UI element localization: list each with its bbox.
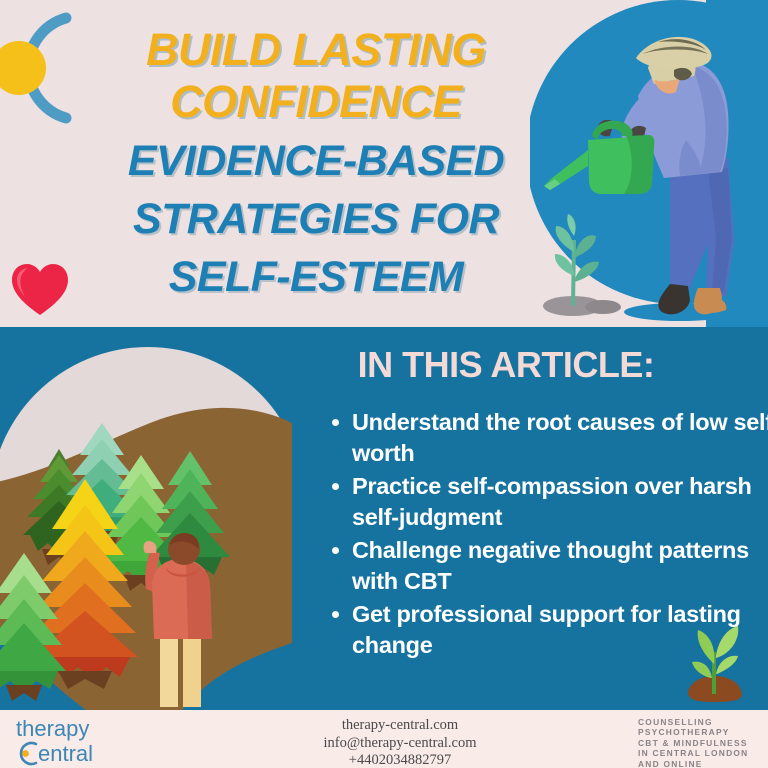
headline-blue-line-3: SELF-ESTEEM <box>96 252 536 302</box>
service-line-4: IN CENTRAL LONDON <box>638 748 768 758</box>
article-content-column: IN THIS ARTICLE: Understand the root cau… <box>296 327 768 710</box>
headline-yellow-line-2: CONFIDENCE <box>96 76 536 128</box>
service-line-2: PSYCHOTHERAPY <box>638 727 768 737</box>
list-item: Practice self-compassion over harsh self… <box>352 471 768 533</box>
seedling-icon <box>676 620 750 706</box>
infographic-poster: BUILD LASTING CONFIDENCE EVIDENCE-BASED … <box>0 0 768 768</box>
article-band: IN THIS ARTICLE: Understand the root cau… <box>0 327 768 710</box>
headline-blue-line-2: STRATEGIES FOR <box>96 194 536 244</box>
headline-blue-line-1: EVIDENCE-BASED <box>96 136 536 186</box>
service-line-1: COUNSELLING <box>638 717 768 727</box>
logo-line-entral: entral <box>38 741 93 766</box>
list-item: Challenge negative thought patterns with… <box>352 535 768 597</box>
forest-path-person-illustration <box>0 327 292 710</box>
phone-number[interactable]: +4402034882797 <box>250 752 550 768</box>
list-item: Understand the root causes of low self-w… <box>352 407 768 469</box>
headline-block: BUILD LASTING CONFIDENCE EVIDENCE-BASED … <box>96 24 536 302</box>
headline-yellow-line-1: BUILD LASTING <box>96 24 536 76</box>
services-list: COUNSELLING PSYCHOTHERAPY CBT & MINDFULN… <box>638 717 768 768</box>
heart-icon <box>8 258 72 320</box>
website-url[interactable]: therapy-central.com <box>250 717 550 735</box>
footer-band: therapy entral therapy-central.com info@… <box>0 710 768 768</box>
logo-line-therapy: therapy <box>16 716 89 741</box>
service-line-5: AND ONLINE <box>638 759 768 768</box>
article-title: IN THIS ARTICLE: <box>296 344 716 386</box>
contact-details: therapy-central.com info@therapy-central… <box>250 717 550 768</box>
therapy-central-logo: therapy entral <box>14 716 164 766</box>
header-band: BUILD LASTING CONFIDENCE EVIDENCE-BASED … <box>0 0 768 327</box>
gardener-watering-plant-illustration <box>530 0 768 327</box>
service-line-3: CBT & MINDFULNESS <box>638 738 768 748</box>
therapy-central-c-mark-icon <box>0 4 96 132</box>
email-address[interactable]: info@therapy-central.com <box>250 735 550 753</box>
logo-c-with-dot <box>21 743 36 764</box>
